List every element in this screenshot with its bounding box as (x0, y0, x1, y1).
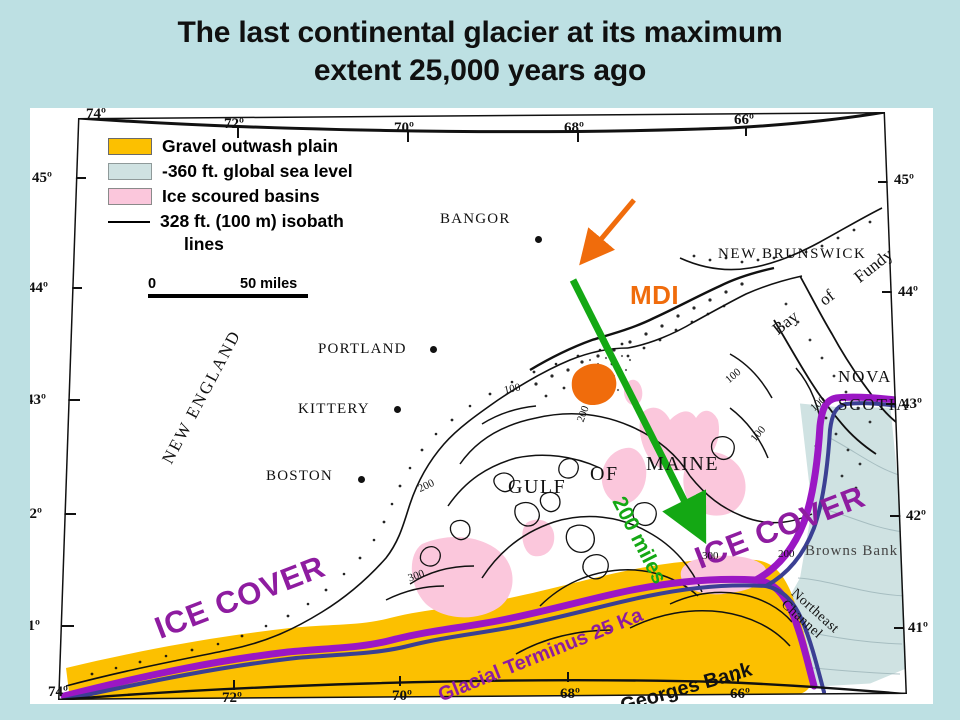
title-line-2: extent 25,000 years ago (0, 52, 960, 90)
legend-label-isobath: 328 ft. (100 m) isobath (160, 211, 344, 232)
lat-label-right-44: 44º (898, 284, 918, 301)
map-scale-bar: 0 50 miles (148, 276, 318, 298)
of-word-gulf: OF (590, 463, 619, 486)
legend-item-isobath: 328 ft. (100 m) isobath (108, 211, 408, 232)
legend-label-isobath-cont: lines (184, 234, 408, 255)
scale-bar-rule (148, 294, 308, 298)
annotation-mdi: MDI (630, 280, 679, 311)
isobath-label-300-a: 300 (702, 550, 719, 562)
lat-label-left-42: 42º (30, 506, 42, 523)
map-figure: Gravel outwash plain -360 ft. global sea… (30, 108, 933, 704)
lat-label-right-45: 45º (894, 172, 914, 189)
region-label-browns-bank: Browns Bank (805, 543, 898, 560)
lon-label-top-68: 68º (564, 120, 584, 137)
title-line-1: The last continental glacier at its maxi… (178, 16, 783, 49)
lon-label-top-72: 72º (224, 116, 244, 133)
city-label-bangor: BANGOR (440, 211, 511, 228)
legend-swatch-blue (108, 163, 152, 180)
legend-item-outwash: Gravel outwash plain (108, 136, 408, 157)
legend-label-basins: Ice scoured basins (162, 186, 320, 207)
isobath-label-200-c: 200 (778, 548, 795, 560)
lon-label-top-70: 70º (394, 120, 414, 137)
city-label-boston: BOSTON (266, 468, 333, 485)
lat-label-left-41: 41º (30, 618, 40, 635)
legend-item-sea-level: -360 ft. global sea level (108, 161, 408, 182)
lon-label-bot-70: 70º (392, 688, 412, 704)
map-legend: Gravel outwash plain -360 ft. global sea… (108, 136, 408, 255)
lon-label-bot-74: 74º (48, 684, 68, 701)
page-title: The last continental glacier at its maxi… (0, 14, 960, 90)
lon-label-bot-66: 66º (730, 686, 750, 703)
scale-zero-label: 0 (148, 276, 156, 292)
city-label-kittery: KITTERY (298, 401, 370, 418)
maine-word: MAINE (646, 453, 719, 476)
legend-swatch-pink (108, 188, 152, 205)
nova-scotia-line-1: NOVA (838, 363, 910, 391)
legend-label-outwash: Gravel outwash plain (162, 136, 338, 157)
lat-label-right-42: 42º (906, 508, 926, 525)
city-dot-boston (358, 476, 365, 483)
region-label-nova-scotia: NOVA SCOTIA (838, 363, 910, 419)
lat-label-left-45: 45º (32, 170, 52, 187)
city-label-portland: PORTLAND (318, 341, 407, 358)
legend-label-sea-level: -360 ft. global sea level (162, 161, 353, 182)
slide-root: The last continental glacier at its maxi… (0, 0, 960, 720)
lat-label-left-43: 43º (30, 392, 46, 409)
legend-swatch-line (108, 221, 150, 223)
lat-label-left-44: 44º (30, 280, 48, 297)
nova-scotia-line-2: SCOTIA (838, 391, 910, 419)
lon-label-top-66: 66º (734, 112, 754, 129)
lon-label-bot-68: 68º (560, 686, 580, 703)
legend-swatch-gold (108, 138, 152, 155)
scale-fifty-label: 50 miles (240, 276, 297, 292)
city-dot-portland (430, 346, 437, 353)
lon-label-top-74: 74º (86, 108, 106, 123)
legend-item-basins: Ice scoured basins (108, 186, 408, 207)
region-label-new-brunswick: NEW BRUNSWICK (718, 246, 866, 263)
city-dot-bangor (535, 236, 542, 243)
gulf-word: GULF (508, 476, 566, 499)
city-dot-kittery (394, 406, 401, 413)
lat-label-right-41: 41º (908, 620, 928, 637)
lon-label-bot-72: 72º (222, 690, 242, 704)
